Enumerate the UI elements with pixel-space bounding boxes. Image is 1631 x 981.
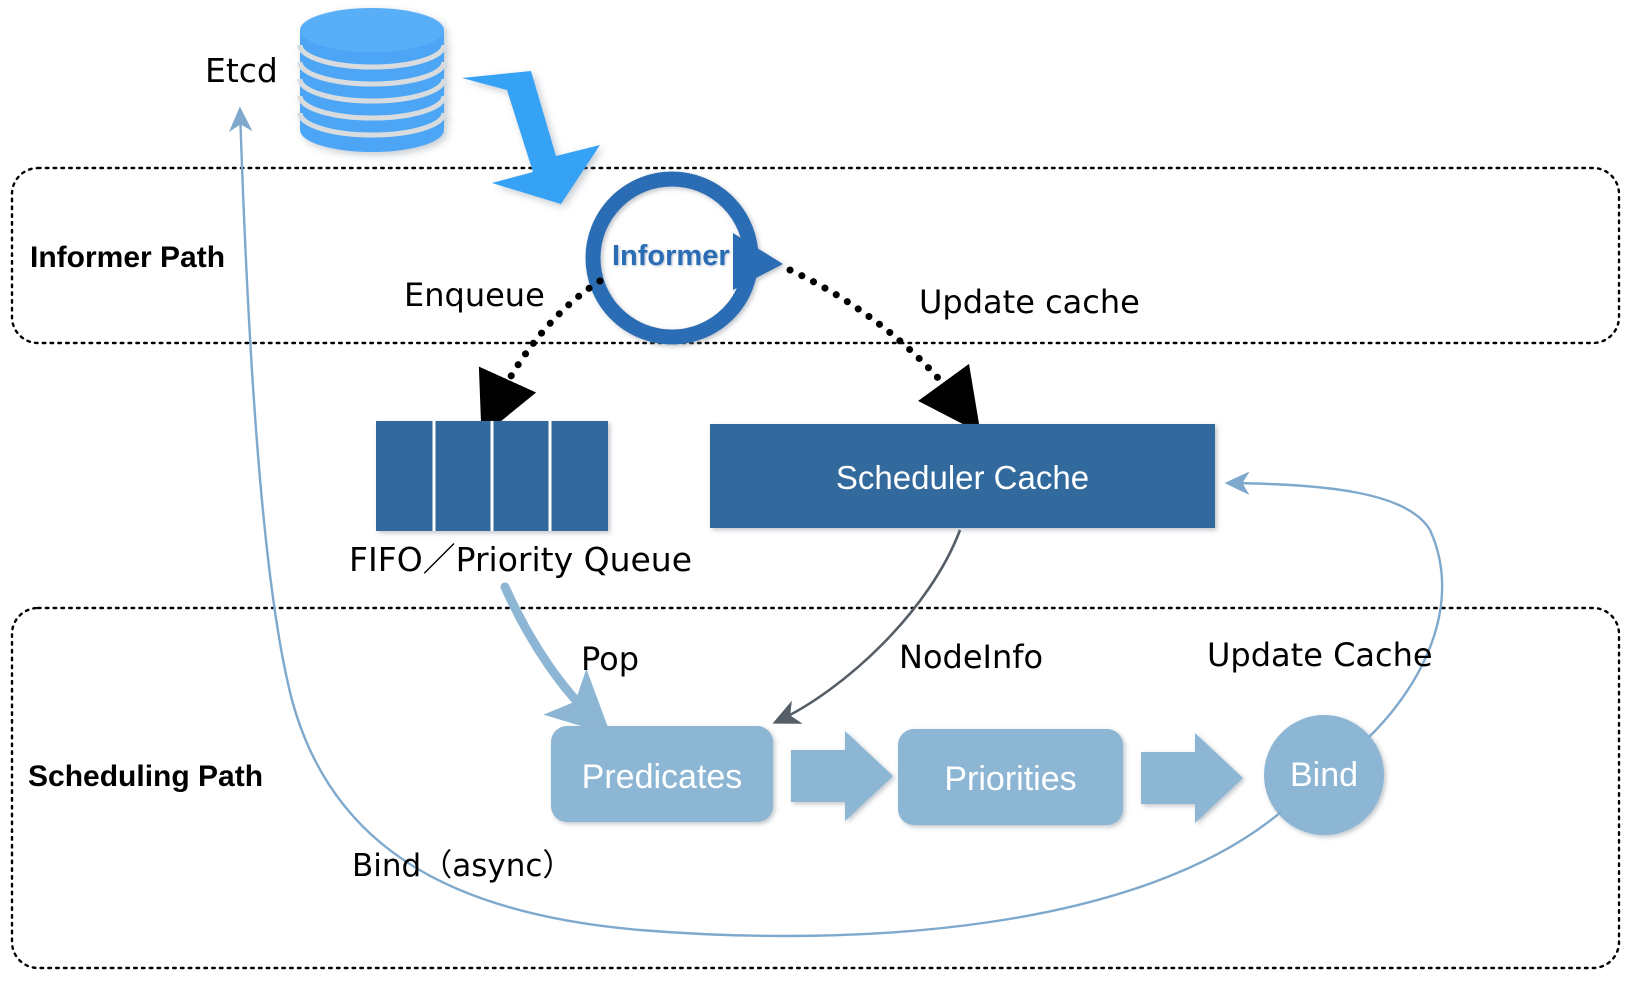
- nodeinfo-arrow: [776, 530, 960, 722]
- diagram-canvas: Informer Path Scheduling Path Etcd Infor…: [0, 0, 1631, 981]
- section-label-informer-path: Informer Path: [30, 243, 225, 273]
- fifo-priority-queue: [376, 421, 608, 531]
- informer-path-frame: [12, 168, 1619, 343]
- predicates-to-priorities-arrow: [791, 731, 893, 821]
- edge-label-update-cache-bind: Update Cache: [1207, 639, 1433, 671]
- edge-label-update-cache-informer: Update cache: [919, 286, 1140, 318]
- bind-label: Bind: [1264, 758, 1384, 792]
- predicates-label: Predicates: [551, 760, 773, 794]
- bind-async-arrow: [240, 110, 1281, 936]
- section-label-scheduling-path: Scheduling Path: [28, 762, 263, 792]
- priorities-label: Priorities: [898, 762, 1123, 796]
- edge-label-pop: Pop: [581, 643, 639, 675]
- scheduler-cache-label: Scheduler Cache: [710, 461, 1215, 494]
- edge-label-bind-async: Bind（async）: [352, 851, 573, 882]
- edge-label-nodeinfo: NodeInfo: [899, 641, 1043, 673]
- etcd-database-icon: [300, 8, 444, 152]
- priorities-to-bind-arrow: [1141, 733, 1243, 823]
- informer-label: Informer: [612, 240, 730, 273]
- etcd-label: Etcd: [205, 54, 278, 87]
- fifo-priority-queue-label: FIFO／Priority Queue: [349, 543, 692, 576]
- update-cache-return-arrow: [1228, 483, 1442, 737]
- etcd-to-informer-block-arrow: [462, 71, 600, 204]
- edge-label-enqueue: Enqueue: [404, 279, 545, 311]
